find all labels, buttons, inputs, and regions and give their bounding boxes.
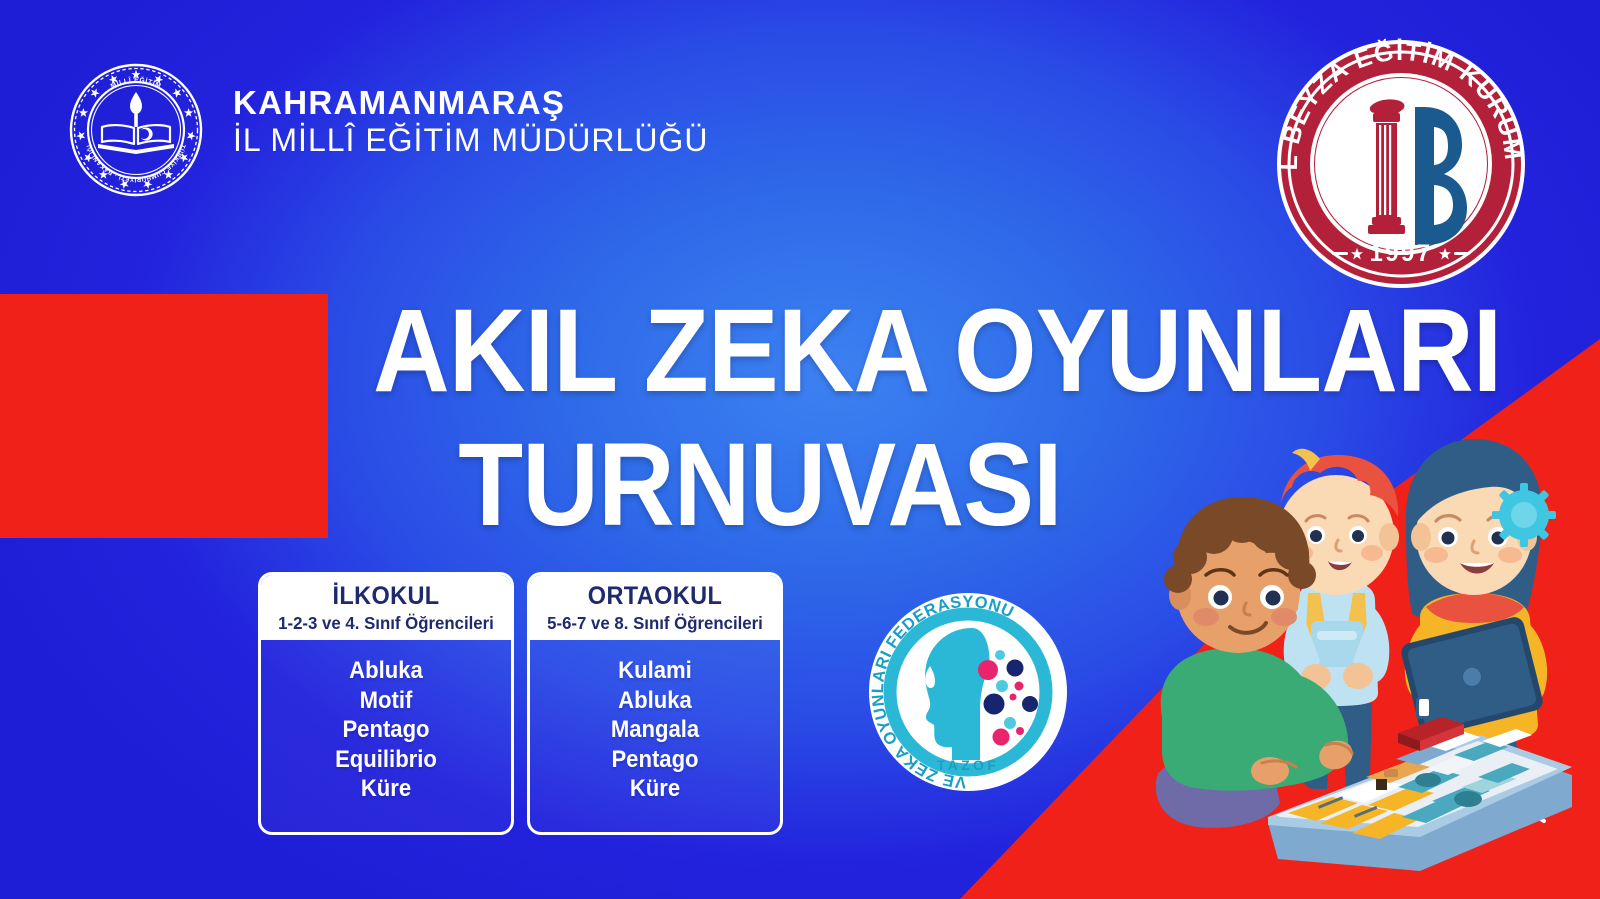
red-accent-block — [0, 294, 328, 538]
game-item: Küre — [540, 774, 770, 804]
card-title: ORTAOKUL — [543, 582, 767, 611]
game-item: Pentago — [271, 715, 501, 745]
game-item: Motif — [271, 686, 501, 716]
header-city-name: KAHRAMANMARAŞ — [233, 86, 708, 120]
children-playing-board-game-illustration — [1120, 425, 1600, 899]
game-item: Pentago — [540, 745, 770, 775]
page-title: AKIL ZEKA OYUNLARI TURNUVASI — [330, 295, 1190, 541]
meb-seal-icon: MİLLÎ EĞİTİM TÜRKİYE CUMHURİYETİ · BAKAN… — [68, 62, 204, 198]
game-item: Abluka — [271, 656, 501, 686]
category-card-ortaokul: ORTAOKUL 5-6-7 ve 8. Sınıf Öğrencileri K… — [527, 572, 783, 835]
tazof-federation-icon: AKIL VE ZEKA OYUNLARI FEDERASYONU TAZOF — [868, 592, 1068, 792]
game-item: Abluka — [540, 686, 770, 716]
card-subtitle: 1-2-3 ve 4. Sınıf Öğrencileri — [272, 613, 500, 634]
header-title-group: KAHRAMANMARAŞ İL MİLLÎ EĞİTİM MÜDÜRLÜĞÜ — [233, 86, 708, 158]
svg-text:MİLLÎ EĞİTİM: MİLLÎ EĞİTİM — [110, 75, 163, 90]
title-line-2: TURNUVASI — [373, 429, 1147, 541]
card-header: İLKOKUL 1-2-3 ve 4. Sınıf Öğrencileri — [261, 575, 511, 640]
poster-canvas: MİLLÎ EĞİTİM TÜRKİYE CUMHURİYETİ · BAKAN… — [0, 0, 1600, 899]
header-department-name: İL MİLLÎ EĞİTİM MÜDÜRLÜĞÜ — [233, 124, 708, 157]
card-header: ORTAOKUL 5-6-7 ve 8. Sınıf Öğrencileri — [530, 575, 780, 640]
beyza-year: 1997 — [1370, 240, 1433, 267]
card-title: İLKOKUL — [274, 582, 498, 611]
beyza-education-seal-icon: ÖZEL BEYZA EĞİTİM KURUMLARI 1997 — [1272, 35, 1530, 293]
game-item: Küre — [271, 774, 501, 804]
card-game-list: Kulami Abluka Mangala Pentago Küre — [530, 640, 780, 832]
card-game-list: Abluka Motif Pentago Equilibrio Küre — [261, 640, 511, 832]
game-item: Kulami — [540, 656, 770, 686]
tazof-acronym: TAZOF — [937, 757, 1000, 773]
card-subtitle: 5-6-7 ve 8. Sınıf Öğrencileri — [541, 613, 769, 634]
game-item: Mangala — [540, 715, 770, 745]
title-line-1: AKIL ZEKA OYUNLARI — [373, 295, 1147, 407]
category-card-list: İLKOKUL 1-2-3 ve 4. Sınıf Öğrencileri Ab… — [258, 572, 783, 835]
category-card-ilkokul: İLKOKUL 1-2-3 ve 4. Sınıf Öğrencileri Ab… — [258, 572, 514, 835]
game-item: Equilibrio — [271, 745, 501, 775]
